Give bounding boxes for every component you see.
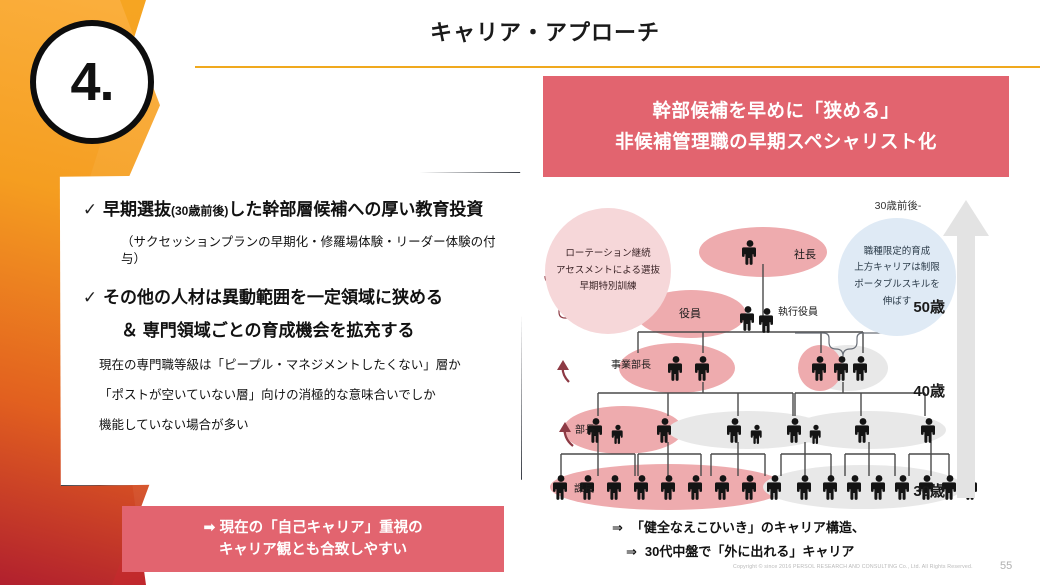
conclusion-banner-left-line1: ➡ 現在の「自己キャリア」重視の <box>203 517 422 539</box>
age-axis-arrow-icon <box>935 198 997 498</box>
age-axis: 50歳 40歳 30歳 <box>935 198 997 498</box>
section-number-badge: 4. <box>30 20 154 144</box>
bottom-notes: ⇒「健全なえこひいき」のキャリア構造、 ⇒30代中盤で「外に出れる」キャリア <box>612 518 962 561</box>
copyright-text: Copyright © since 2016 PERSOL RESEARCH A… <box>733 564 973 570</box>
role-label-kacho: 課長 <box>574 480 594 495</box>
conclusion-banner-left-line2: キャリア観とも合致しやすい <box>219 539 407 561</box>
role-label-shacho: 社長 <box>794 246 816 262</box>
bullet-1-post: した幹部層候補への厚い教育投資 <box>228 200 483 219</box>
bottom-note-2: ⇒30代中盤で「外に出れる」キャリア <box>626 542 962 562</box>
blue-bubble-line2: 上方キャリアは制限 <box>854 260 940 277</box>
check-icon: ✓ <box>77 287 103 309</box>
bullet-item-1: ✓ 早期選抜(30歳前後)した幹部層候補への厚い教育投資 <box>77 199 503 222</box>
bullet-item-2: ✓ その他の人材は異動範囲を一定領域に狭める <box>77 287 503 310</box>
bullet-2-text: その他の人材は異動範囲を一定領域に狭める <box>103 287 443 310</box>
org-chart-diagram: ローテーション継続 アセスメントによる選抜 早期特別訓練 30歳前後- 職種限定… <box>543 190 1013 515</box>
role-label-yakuin: 役員 <box>679 305 701 321</box>
bullet-1-pre: 早期選抜 <box>103 200 171 219</box>
bullet-1-small: (30歳前後) <box>171 204 228 218</box>
headline-banner-right: 幹部候補を早めに「狭める」 非候補管理職の早期スペシャリスト化 <box>543 76 1009 177</box>
pink-bubble-line3: 早期特別訓練 <box>579 279 636 296</box>
check-icon: ✓ <box>77 199 103 221</box>
conclusion-left-text1: 現在の「自己キャリア」重視の <box>220 520 423 536</box>
content-note-3: 機能していない場合が多い <box>99 417 503 433</box>
annotation-bubble-pink: ローテーション継続 アセスメントによる選抜 早期特別訓練 <box>545 208 671 334</box>
title-divider <box>195 66 1040 68</box>
role-label-jigyo-bucho: 事業部長 <box>611 356 651 371</box>
bullet-1-subnote: （サクセッションプランの早期化・修羅場体験・リーダー体験の付与） <box>121 234 503 269</box>
headline-line1: 幹部候補を早めに「狭める」 <box>652 96 899 127</box>
bottom-note-2-text: 30代中盤で「外に出れる」キャリア <box>645 544 854 559</box>
content-note-2: 「ポストが空いていない層」向けの消極的な意味合いでしか <box>99 387 503 403</box>
content-box: ✓ 早期選抜(30歳前後)した幹部層候補への厚い教育投資 （サクセッションプラン… <box>58 172 522 486</box>
content-note-1: 現在の専門職等級は「ピープル・マネジメントしたくない」層か <box>99 357 503 373</box>
bottom-note-1-text: 「健全なえこひいき」のキャリア構造、 <box>631 520 865 535</box>
blue-bubble-line4: 伸ばす <box>883 294 912 311</box>
bullet-1-text: 早期選抜(30歳前後)した幹部層候補への厚い教育投資 <box>103 199 483 222</box>
blue-bubble-line1: 職種限定的育成 <box>864 244 931 261</box>
arrow-right-icon: ➡ <box>203 520 215 536</box>
age-label-40: 40歳 <box>913 380 945 401</box>
age-label-30: 30歳 <box>913 480 945 501</box>
page-title: キャリア・アプローチ <box>430 15 660 47</box>
slide-root: 4. キャリア・アプローチ ✓ 早期選抜(30歳前後)した幹部層候補への厚い教育… <box>0 0 1040 585</box>
pink-bubble-line1: ローテーション継続 <box>565 246 650 263</box>
headline-line2: 非候補管理職の早期スペシャリスト化 <box>615 127 937 158</box>
bullet-2-continuation: ＆ 専門領域ごとの育成機会を拡充する <box>121 320 503 343</box>
arrow-right-icon: ⇒ <box>612 520 623 535</box>
age-label-50: 50歳 <box>913 296 945 317</box>
arrow-right-icon: ⇒ <box>626 544 637 559</box>
bottom-note-1: ⇒「健全なえこひいき」のキャリア構造、 <box>612 518 962 538</box>
page-number: 55 <box>1000 560 1012 572</box>
role-label-shikko-yakuin: 執行役員 <box>778 303 818 318</box>
conclusion-banner-left: ➡ 現在の「自己キャリア」重視の キャリア観とも合致しやすい <box>122 506 504 572</box>
pink-bubble-line2: アセスメントによる選抜 <box>556 263 660 280</box>
role-label-bucho: 部長 <box>575 421 595 436</box>
section-number-text: 4. <box>70 55 113 109</box>
blue-bubble-line3: ポータブルスキルを <box>854 277 940 294</box>
